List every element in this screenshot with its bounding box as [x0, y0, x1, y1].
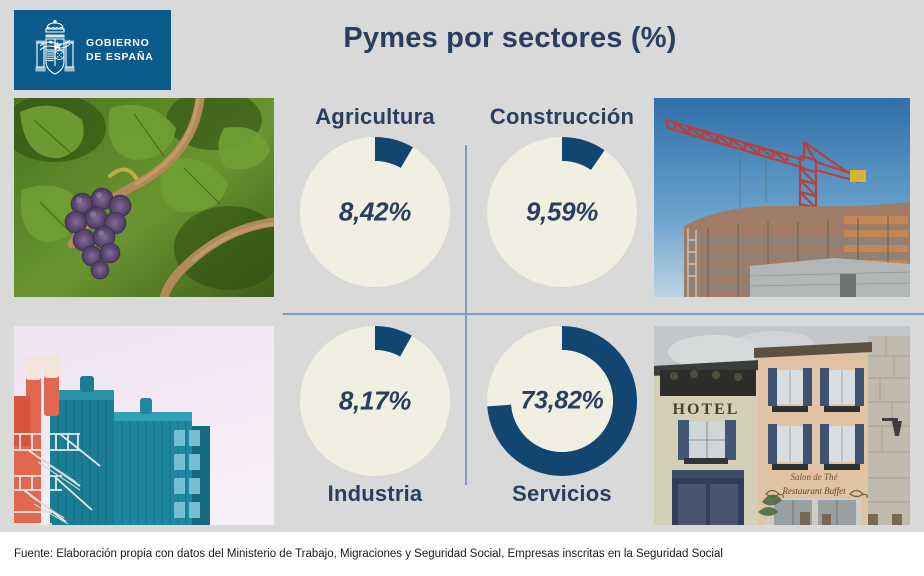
spain-coat-of-arms-icon: [30, 19, 80, 81]
logo-text-block: GOBIERNO DE ESPAÑA: [86, 36, 154, 64]
chart-value-industria: 8,17%: [283, 386, 467, 417]
chart-value-servicios: 73,82%: [470, 387, 654, 416]
source-note: Fuente: Elaboración propia con datos del…: [14, 548, 723, 560]
gobierno-de-espana-logo: GOBIERNO DE ESPAÑA: [14, 10, 171, 90]
page-title: Pymes por sectores (%): [190, 22, 830, 55]
photo-servicios: HOTEL: [654, 326, 910, 525]
logo-line-1: GOBIERNO: [86, 36, 154, 50]
chart-value-agricultura: 8,42%: [283, 197, 467, 228]
donut-agricultura: 8,42%: [283, 136, 467, 288]
chart-label-agricultura: Agricultura: [283, 104, 467, 130]
photo-agricultura: [14, 98, 274, 297]
photo-industria: [14, 326, 274, 525]
chart-label-servicios: Servicios: [470, 481, 654, 507]
donut-servicios: 73,82%: [470, 325, 654, 477]
chart-cell-industria: 8,17% Industria: [283, 325, 467, 507]
photo-construccion: [654, 98, 910, 297]
chart-cell-servicios: 73,82% Servicios: [470, 325, 654, 507]
footer-bar: Fuente: Elaboración propia con datos del…: [0, 532, 924, 576]
donut-construccion: 9,59%: [470, 136, 654, 288]
chart-cell-construccion: Construcción 9,59%: [470, 104, 654, 288]
donut-industria: 8,17%: [283, 325, 467, 477]
chart-cell-agricultura: Agricultura 8,42%: [283, 104, 467, 288]
chart-label-construccion: Construcción: [470, 104, 654, 130]
slide-canvas: GOBIERNO DE ESPAÑA Pymes por sectores (%…: [0, 0, 924, 576]
logo-line-2: DE ESPAÑA: [86, 50, 154, 64]
divider-horizontal: [283, 313, 924, 315]
chart-label-industria: Industria: [283, 481, 467, 507]
chart-value-construccion: 9,59%: [470, 197, 654, 228]
